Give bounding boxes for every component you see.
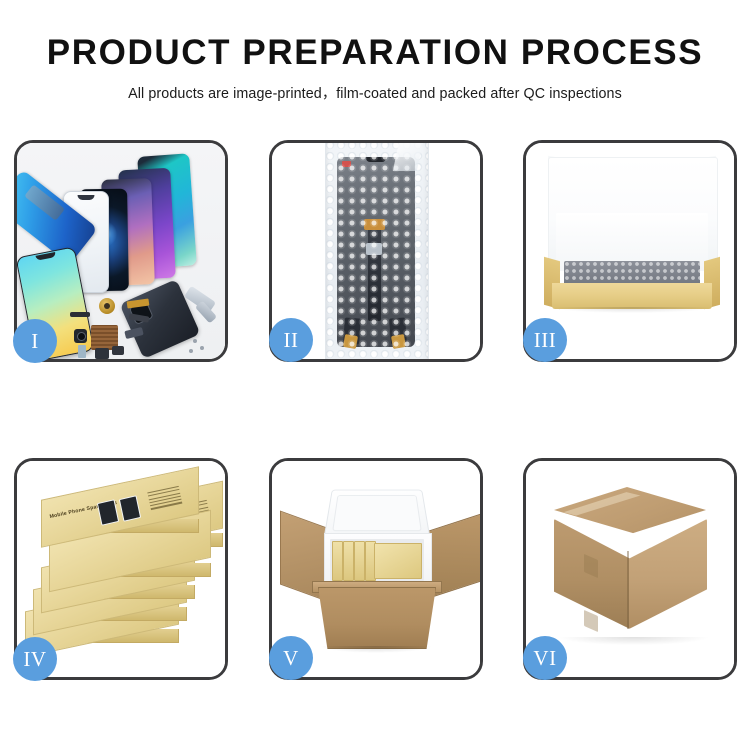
red-label-sticker: [342, 161, 351, 167]
packed-kraft-box: [343, 541, 354, 581]
foam-cooler-lid: [323, 490, 430, 539]
box-shadow: [552, 307, 712, 313]
page-subtitle: All products are image-printed，film-coat…: [0, 71, 750, 103]
flex-cable: [368, 225, 381, 321]
screw-part: [189, 349, 193, 353]
packed-kraft-box: [332, 541, 343, 581]
step-panel-4[interactable]: Mobile Phone Spare Parts: [14, 458, 228, 680]
speaker-part: [70, 312, 90, 317]
page-title: PRODUCT PREPARATION PROCESS: [0, 0, 750, 71]
gold-contact-left: [343, 334, 358, 349]
packed-kraft-box-flat: [374, 543, 422, 579]
carton-shadow: [560, 637, 708, 645]
steps-grid: I: [0, 140, 750, 680]
step-panel-1[interactable]: I: [14, 140, 228, 362]
battery-connector-part: [95, 348, 109, 359]
step-badge-2: II: [269, 318, 313, 362]
button-part: [112, 346, 124, 355]
step-panel-3[interactable]: III: [523, 140, 737, 362]
step-badge-1: I: [13, 319, 57, 363]
foam-lid-inset: [332, 495, 422, 531]
sim-tray-part: [78, 345, 86, 358]
stacked-box-labeled: Mobile Phone Spare Parts: [41, 483, 197, 529]
carton-shadow: [320, 646, 432, 653]
carton-corner-seam: [627, 551, 629, 629]
carton-body: [318, 587, 436, 649]
steps-row-1: I: [0, 140, 750, 362]
foam-box-interior: [330, 539, 424, 581]
step-badge-3: III: [523, 318, 567, 362]
header: PRODUCT PREPARATION PROCESS All products…: [0, 0, 750, 103]
camera-module-part: [74, 329, 87, 343]
carton-flap-tab: [584, 610, 598, 632]
product-preparation-process-infographic: PRODUCT PREPARATION PROCESS All products…: [0, 0, 750, 750]
packed-kraft-box: [354, 541, 365, 581]
wireless-coil-part: [99, 298, 115, 314]
screw-part: [200, 346, 204, 350]
carton-right-face: [629, 519, 707, 629]
step-badge-4: IV: [13, 637, 57, 681]
steps-row-2: Mobile Phone Spare Parts: [0, 458, 750, 680]
gold-contact-right: [391, 334, 406, 349]
screw-part: [193, 339, 197, 343]
box-stack: Mobile Phone Spare Parts: [23, 477, 223, 669]
screen-notch: [366, 157, 386, 162]
step-panel-2[interactable]: II: [269, 140, 483, 362]
step-badge-5: V: [269, 636, 313, 680]
flex-connector-gold: [364, 219, 385, 230]
box-front-wall: [552, 283, 712, 309]
step-panel-6[interactable]: VI: [523, 458, 737, 680]
step-badge-6: VI: [523, 636, 567, 680]
step-panel-5[interactable]: V: [269, 458, 483, 680]
flex-chip: [366, 243, 382, 255]
